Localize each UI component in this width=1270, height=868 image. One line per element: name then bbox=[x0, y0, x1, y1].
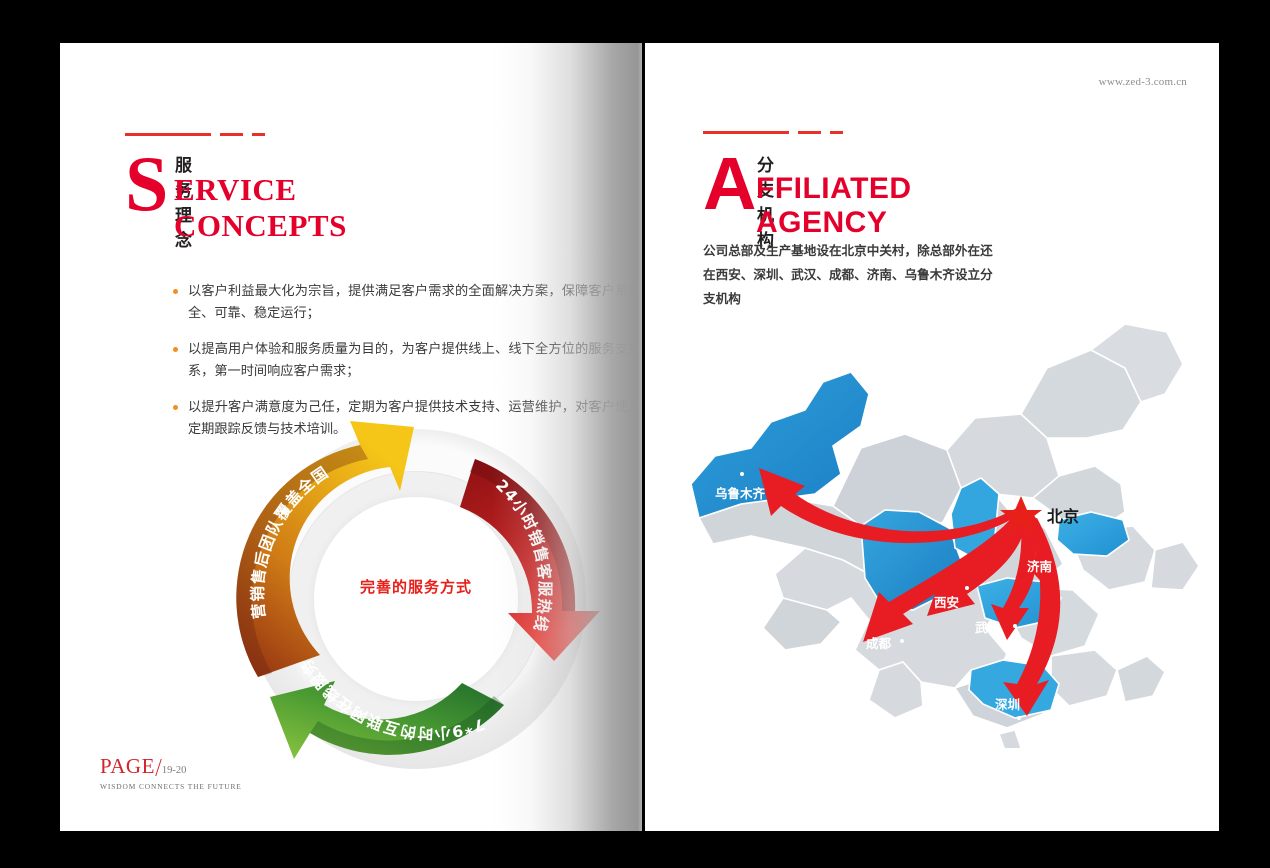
right-header-rule bbox=[703, 131, 843, 134]
list-item: 以提高用户体验和服务质量为目的，为客户提供线上、线下全方位的服务支持体系，第一时… bbox=[173, 339, 642, 383]
city-dot-xian bbox=[965, 586, 969, 590]
bullet-dot-icon bbox=[173, 347, 178, 352]
right-page: www.zed-3.com.cn A 分支机构 FFILIATED AGENCY… bbox=[645, 43, 1219, 831]
list-item: 以客户利益最大化为宗旨，提供满足客户需求的全面解决方案，保障客户系统安全、可靠、… bbox=[173, 281, 642, 325]
cycle-center-label: 完善的服务方式 bbox=[232, 576, 600, 597]
city-label-urumqi: 乌鲁木齐 bbox=[715, 483, 765, 502]
city-label-chengdu: 成都 bbox=[866, 633, 891, 652]
china-branch-map: 乌鲁木齐 济南 西安 成都 武汉 深圳 北京 bbox=[655, 298, 1215, 748]
city-dot-chengdu bbox=[900, 639, 904, 643]
list-item-text: 以客户利益最大化为宗旨，提供满足客户需求的全面解决方案，保障客户系统安全、可靠、… bbox=[188, 284, 642, 321]
website-url: www.zed-3.com.cn bbox=[1099, 76, 1187, 88]
city-label-xian: 西安 bbox=[934, 592, 959, 611]
footer-page-line: PAGE19-20 bbox=[100, 754, 242, 779]
left-page: S 服务理念 ERVICE CONCEPTS 以客户利益最大化为宗旨，提供满足客… bbox=[60, 43, 642, 831]
city-dot-wuhan bbox=[1013, 624, 1017, 628]
page-footer: PAGE19-20 WISDOM CONNECTS THE FUTURE bbox=[100, 754, 242, 791]
title-en: ERVICE CONCEPTS bbox=[174, 172, 347, 244]
cycle-segment-red bbox=[460, 459, 600, 661]
city-dot-urumqi bbox=[740, 472, 744, 476]
dropcap-a: A bbox=[703, 147, 756, 221]
title-en: FFILIATED AGENCY bbox=[756, 172, 912, 240]
service-cycle-diagram: 24小时销售客服热线 7*9小时的互联网在线服务 营销售后团队覆盖全国 完善的服… bbox=[232, 415, 600, 783]
bullet-dot-icon bbox=[173, 289, 178, 294]
city-label-wuhan: 武汉 bbox=[975, 617, 1000, 636]
city-label-jinan: 济南 bbox=[1027, 556, 1052, 575]
city-label-beijing: 北京 bbox=[1047, 503, 1079, 527]
cycle-arrows: 24小时销售客服热线 7*9小时的互联网在线服务 营销售后团队覆盖全国 bbox=[232, 415, 600, 783]
left-header-rule bbox=[125, 133, 265, 136]
city-label-shenzhen: 深圳 bbox=[995, 694, 1020, 713]
footer-page-word: PAGE bbox=[100, 754, 155, 778]
footer-slash-icon bbox=[155, 759, 162, 776]
map-graphic bbox=[655, 298, 1215, 748]
city-dot-shenzhen bbox=[1017, 716, 1021, 720]
bullet-dot-icon bbox=[173, 405, 178, 410]
brochure-spread: S 服务理念 ERVICE CONCEPTS 以客户利益最大化为宗旨，提供满足客… bbox=[0, 0, 1270, 868]
footer-tagline: WISDOM CONNECTS THE FUTURE bbox=[100, 782, 242, 791]
footer-page-number: 19-20 bbox=[162, 765, 187, 776]
dropcap-s: S bbox=[125, 145, 168, 223]
list-item-text: 以提高用户体验和服务质量为目的，为客户提供线上、线下全方位的服务支持体系，第一时… bbox=[188, 342, 642, 379]
